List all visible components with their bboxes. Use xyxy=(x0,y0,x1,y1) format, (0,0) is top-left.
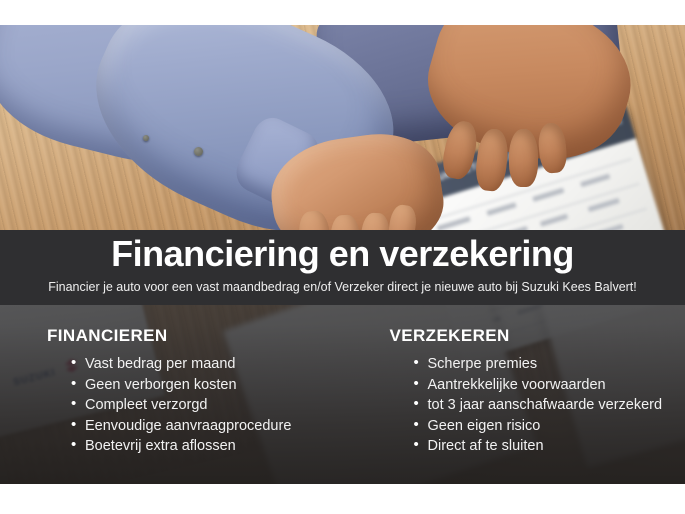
sleeve-button-icon xyxy=(143,135,149,141)
promo-banner-image: SUZUKI SUZUKI BETAALPLAN SUZUKI xyxy=(0,0,685,514)
verzekeren-list: Scherpe premies Aantrekkelijke voorwaard… xyxy=(390,354,685,457)
letterbox-bottom xyxy=(0,484,685,514)
list-item: Geen eigen risico xyxy=(414,416,685,437)
page-title: Financiering en verzekering xyxy=(0,233,685,275)
column-verzekeren: VERZEKEREN Scherpe premies Aantrekkelijk… xyxy=(343,305,685,484)
list-item: Eenvoudige aanvraagprocedure xyxy=(71,416,343,437)
column-financieren: FINANCIEREN Vast bedrag per maand Geen v… xyxy=(0,305,343,484)
page-subtitle: Financier je auto voor een vast maandbed… xyxy=(0,280,685,294)
column-financieren-heading: FINANCIEREN xyxy=(47,326,343,346)
letterbox-top xyxy=(0,0,685,25)
list-item: Scherpe premies xyxy=(414,354,685,375)
list-item: Boetevrij extra aflossen xyxy=(71,436,343,457)
list-item: Geen verborgen kosten xyxy=(71,375,343,396)
list-item: Aantrekkelijke voorwaarden xyxy=(414,375,685,396)
list-item: Compleet verzorgd xyxy=(71,395,343,416)
list-item: Vast bedrag per maand xyxy=(71,354,343,375)
list-item: Direct af te sluiten xyxy=(414,436,685,457)
cuff-button-icon xyxy=(194,147,203,156)
list-item: tot 3 jaar aanschafwaarde verzekerd xyxy=(414,395,685,416)
upper-finger-ring xyxy=(509,129,538,187)
column-verzekeren-heading: VERZEKEREN xyxy=(390,326,685,346)
feature-columns: FINANCIEREN Vast bedrag per maand Geen v… xyxy=(0,305,685,484)
financieren-list: Vast bedrag per maand Geen verborgen kos… xyxy=(47,354,343,457)
